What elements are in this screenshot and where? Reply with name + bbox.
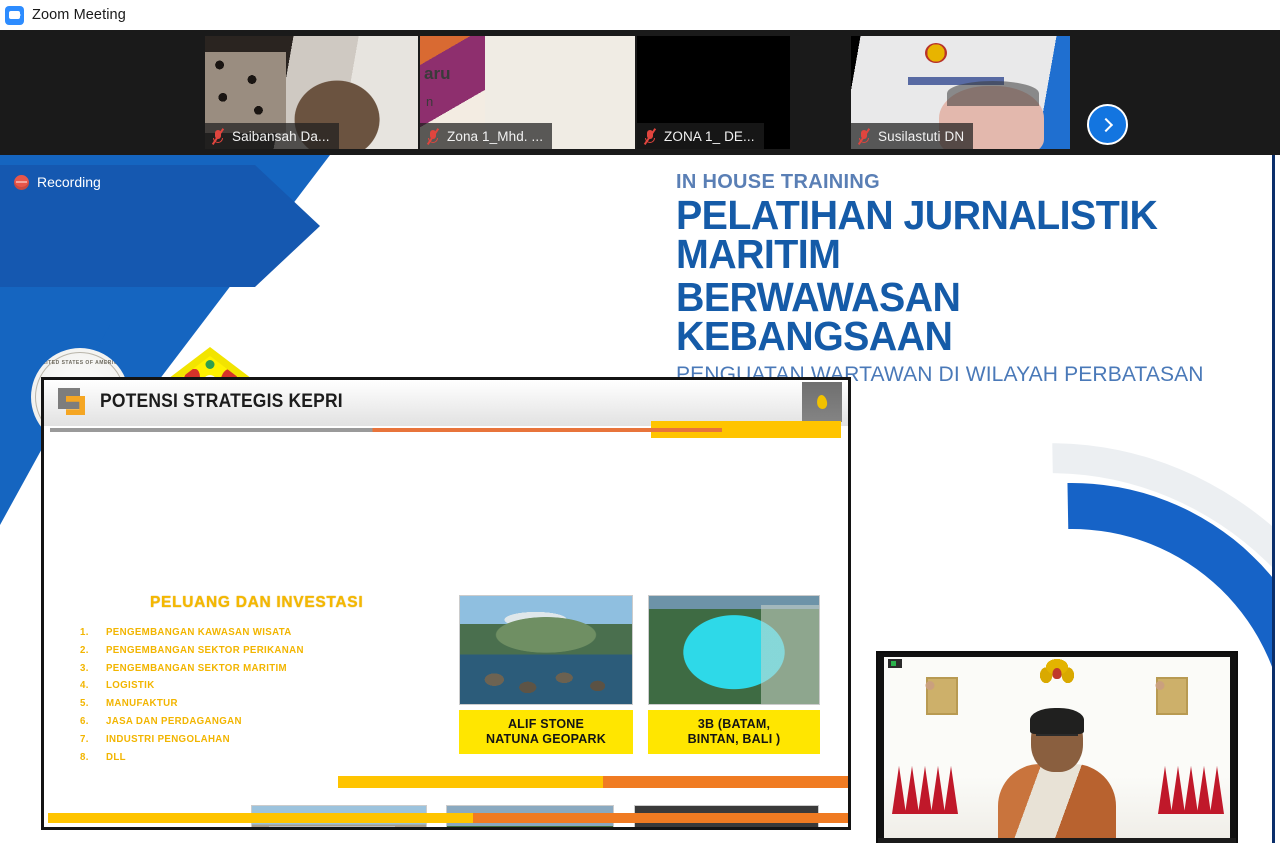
caption-3b-batam-bintan-bali: 3B (BATAM, BINTAN, BALI )	[648, 710, 820, 754]
zoom-camera-icon	[5, 6, 24, 25]
list-item: 3. PENGEMBANGAN SEKTOR MARITIM	[80, 663, 410, 674]
header-eyebrow: IN HOUSE TRAINING	[676, 171, 1236, 194]
recording-stop-icon	[14, 175, 29, 190]
participant-nameplate-2: ZONA 1_ DE...	[637, 123, 764, 149]
participant-nameplate-1: Zona 1_Mhd. ...	[420, 123, 552, 149]
list-item: 7. INDUSTRI PENGOLAHAN	[80, 734, 410, 745]
speaker-video-window[interactable]	[876, 651, 1238, 843]
participant-tile-1[interactable]: aru n Zona 1_Mhd. ...	[420, 36, 635, 149]
official-portrait-right	[1156, 677, 1188, 715]
slide-divider-bar-middle	[338, 776, 848, 788]
slide-divider-rule	[50, 428, 722, 432]
list-item: 6. JASA DAN PERDAGANGAN	[80, 716, 410, 727]
presentation-header: IN HOUSE TRAINING PELATIHAN JURNALISTIK …	[676, 171, 1236, 387]
garuda-emblem-icon	[1040, 659, 1074, 687]
slide-squares-icon	[58, 388, 88, 416]
shared-screen-content[interactable]: Recording UNITED STATES OF AMERICA INDON…	[0, 155, 1275, 843]
official-portrait-left	[926, 677, 958, 715]
list-item: 1. PENGEMBANGAN KAWASAN WISATA	[80, 627, 410, 638]
photo-3b-batam-bintan-bali	[648, 595, 820, 705]
participant-nameplate-3: Susilastuti DN	[851, 123, 973, 149]
speaker-room-video	[884, 657, 1230, 838]
slide-opportunity-list: 1. PENGEMBANGAN KAWASAN WISATA 2. PENGEM…	[80, 627, 410, 769]
participant-nameplate-0: Saibansah Da...	[205, 123, 339, 149]
list-item: 5. MANUFAKTUR	[80, 698, 410, 709]
header-title-line2: BERWAWASAN KEBANGSAAN	[676, 278, 1214, 357]
flag-row-left	[892, 752, 956, 814]
window-title-bar: Zoom Meeting	[0, 0, 1280, 30]
photo-alif-stone-natuna	[459, 595, 633, 705]
list-item: 8. DLL	[80, 752, 410, 763]
mic-muted-icon	[643, 129, 658, 144]
us-seal-text-top: UNITED STATES OF AMERICA	[31, 360, 129, 366]
slide-header: POTENSI STRATEGIS KEPRI	[44, 380, 848, 426]
mic-muted-icon	[426, 129, 441, 144]
speaker-person	[998, 710, 1116, 838]
list-item: 2. PENGEMBANGAN SEKTOR PERIKANAN	[80, 645, 410, 656]
slide-title: POTENSI STRATEGIS KEPRI	[100, 391, 343, 413]
recording-label: Recording	[37, 174, 101, 190]
mic-muted-icon	[857, 129, 872, 144]
slide-list-title: PELUANG DAN INVESTASI	[150, 594, 363, 612]
slide-divider-bar-bottom	[48, 813, 850, 823]
participant-tile-2[interactable]: ZONA 1_ DE...	[637, 36, 790, 149]
speaker-overlay-label	[888, 659, 902, 668]
recording-indicator: Recording	[14, 174, 101, 190]
chevron-right-icon[interactable]	[1087, 104, 1128, 145]
caption-alif-stone-natuna: ALIF STONE NATUNA GEOPARK	[459, 710, 633, 754]
list-item: 4. LOGISTIK	[80, 680, 410, 691]
participant-name-0: Saibansah Da...	[232, 129, 330, 144]
flag-row-right	[1158, 752, 1222, 814]
participant-name-1: Zona 1_Mhd. ...	[447, 129, 543, 144]
participant-filmstrip: Saibansah Da... aru n Zona 1_Mhd. ... ZO…	[0, 30, 1280, 155]
participant-tile-3[interactable]: Susilastuti DN	[851, 36, 1070, 149]
window-title: Zoom Meeting	[32, 7, 126, 23]
header-title-line1: PELATIHAN JURNALISTIK MARITIM	[676, 196, 1214, 275]
participant-tile-0[interactable]: Saibansah Da...	[205, 36, 418, 149]
mic-muted-icon	[211, 129, 226, 144]
presentation-slide[interactable]: POTENSI STRATEGIS KEPRI PELUANG DAN INVE…	[41, 377, 851, 830]
flame-icon	[802, 382, 842, 422]
inner-zoom-toolbar[interactable]	[878, 838, 1236, 843]
participant-name-2: ZONA 1_ DE...	[664, 129, 755, 144]
participant-name-3: Susilastuti DN	[878, 129, 964, 144]
recording-banner: Recording	[0, 165, 320, 287]
